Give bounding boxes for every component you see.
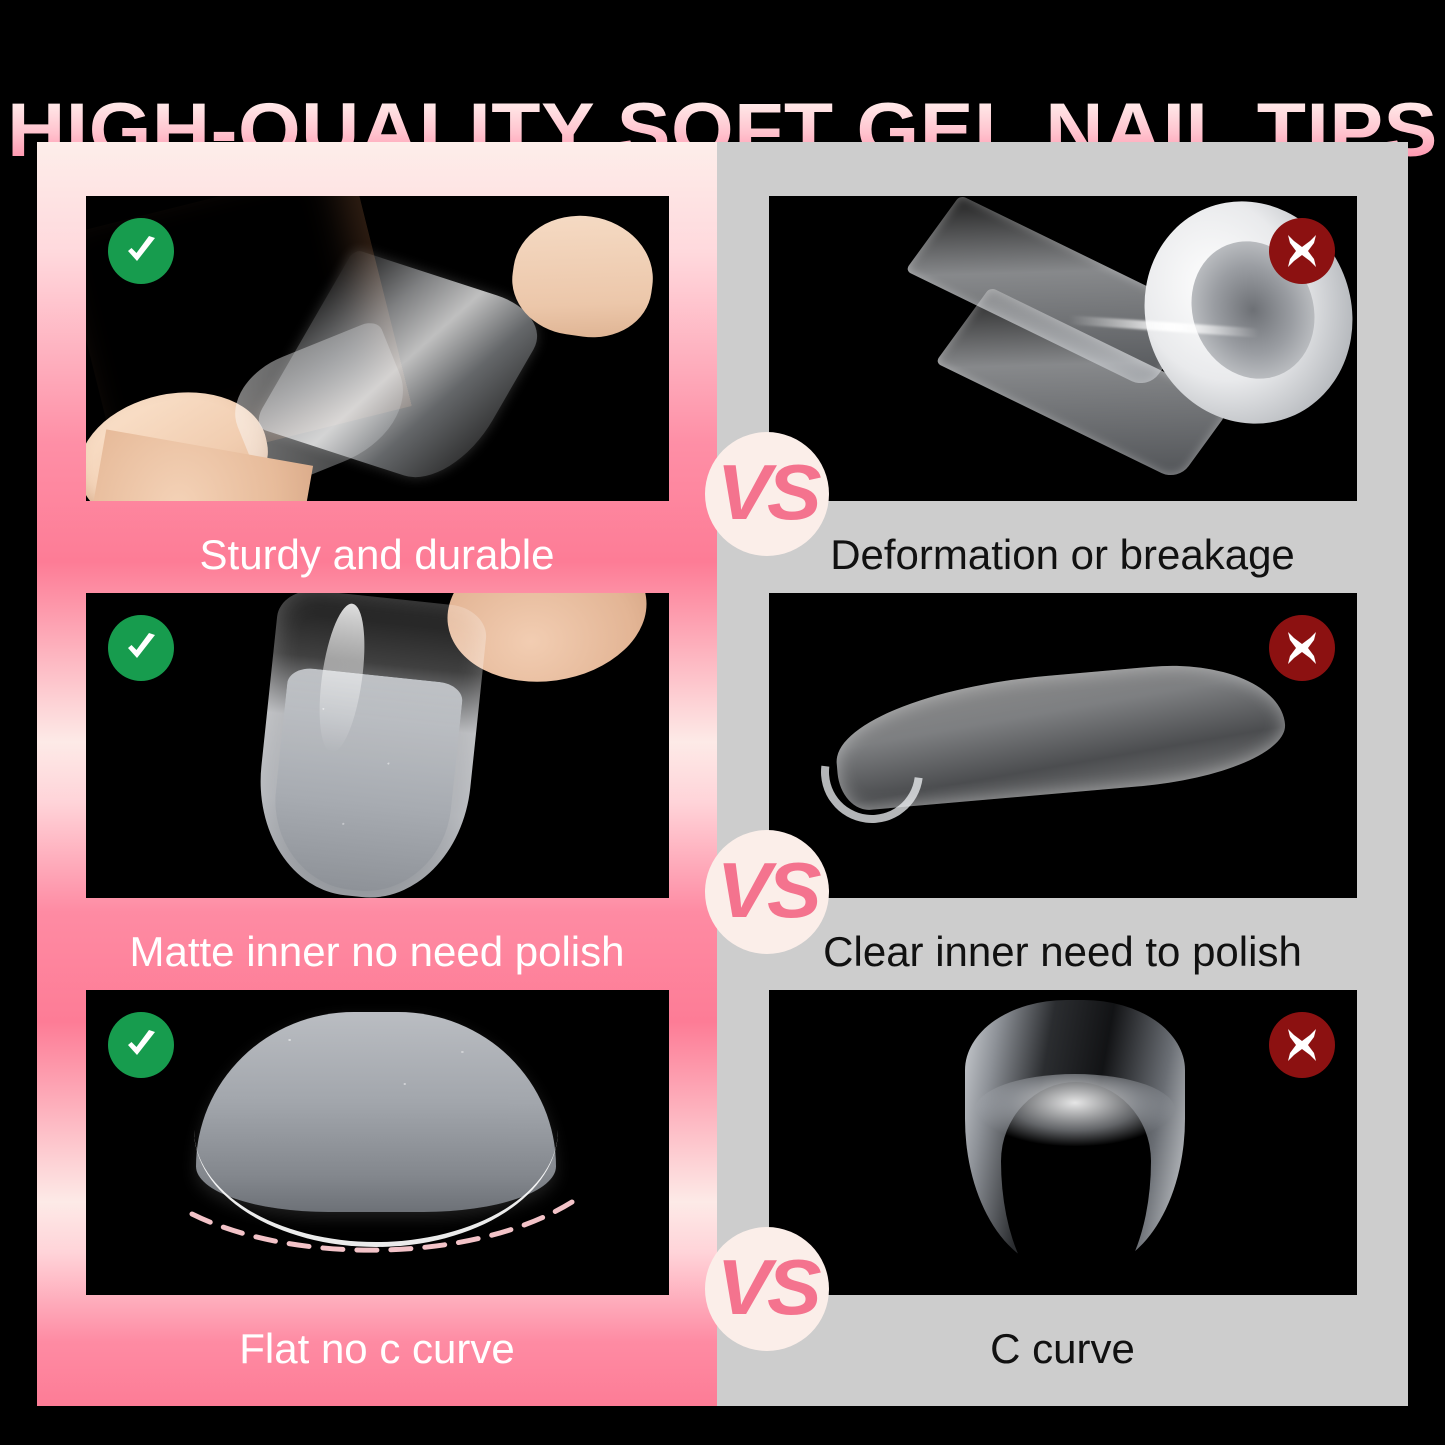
- good-cell-row-1: Sturdy and durable: [37, 196, 717, 583]
- photo-clear-inner: [769, 593, 1357, 898]
- good-column: Sturdy and durable Matte inn: [37, 142, 717, 1406]
- caption-good-row-2: Matte inner no need polish: [37, 924, 717, 980]
- vs-label: VS: [717, 453, 818, 535]
- vs-label: VS: [717, 851, 818, 933]
- caption-good-row-3: Flat no c curve: [37, 1321, 717, 1377]
- caption-good-row-1: Sturdy and durable: [37, 527, 717, 583]
- good-cell-row-2: Matte inner no need polish: [37, 593, 717, 980]
- cross-icon: [1269, 1012, 1335, 1078]
- caption-bad-row-2: Clear inner need to polish: [717, 924, 1408, 980]
- c-curve-lip-highlight: [975, 1074, 1175, 1146]
- photo-deformation-or-breakage: [769, 196, 1357, 501]
- good-cell-row-3: Flat no c curve: [37, 990, 717, 1377]
- check-icon: [108, 218, 174, 284]
- caption-bad-row-3: C curve: [717, 1321, 1408, 1377]
- vs-label: VS: [717, 1248, 818, 1330]
- photo-flat-no-c-curve: [86, 990, 669, 1295]
- photo-c-curve: [769, 990, 1357, 1295]
- vs-badge-row-3: VS: [705, 1227, 829, 1351]
- vs-badge-row-2: VS: [705, 830, 829, 954]
- caption-bad-row-1: Deformation or breakage: [717, 527, 1408, 583]
- cross-icon: [1269, 218, 1335, 284]
- comparison-grid: Sturdy and durable Matte inn: [37, 142, 1408, 1406]
- vs-badge-row-1: VS: [705, 432, 829, 556]
- matte-nail-tip: [248, 593, 488, 898]
- dashed-flat-curve-guide: [182, 1140, 582, 1260]
- artwork-c-curve-tip: [769, 990, 1357, 1295]
- check-icon: [108, 1012, 174, 1078]
- photo-matte-inner: [86, 593, 669, 898]
- artwork-clear-side-tip: [769, 593, 1357, 898]
- photo-sturdy-and-durable: [86, 196, 669, 501]
- artwork-broken-tips: [769, 196, 1357, 501]
- bad-column: Deformation or breakage Clear inner need: [717, 142, 1408, 1406]
- infographic-poster: HIGH-QUALITY SOFT GEL NAIL TIPS: [0, 0, 1445, 1445]
- cross-icon: [1269, 615, 1335, 681]
- check-icon: [108, 615, 174, 681]
